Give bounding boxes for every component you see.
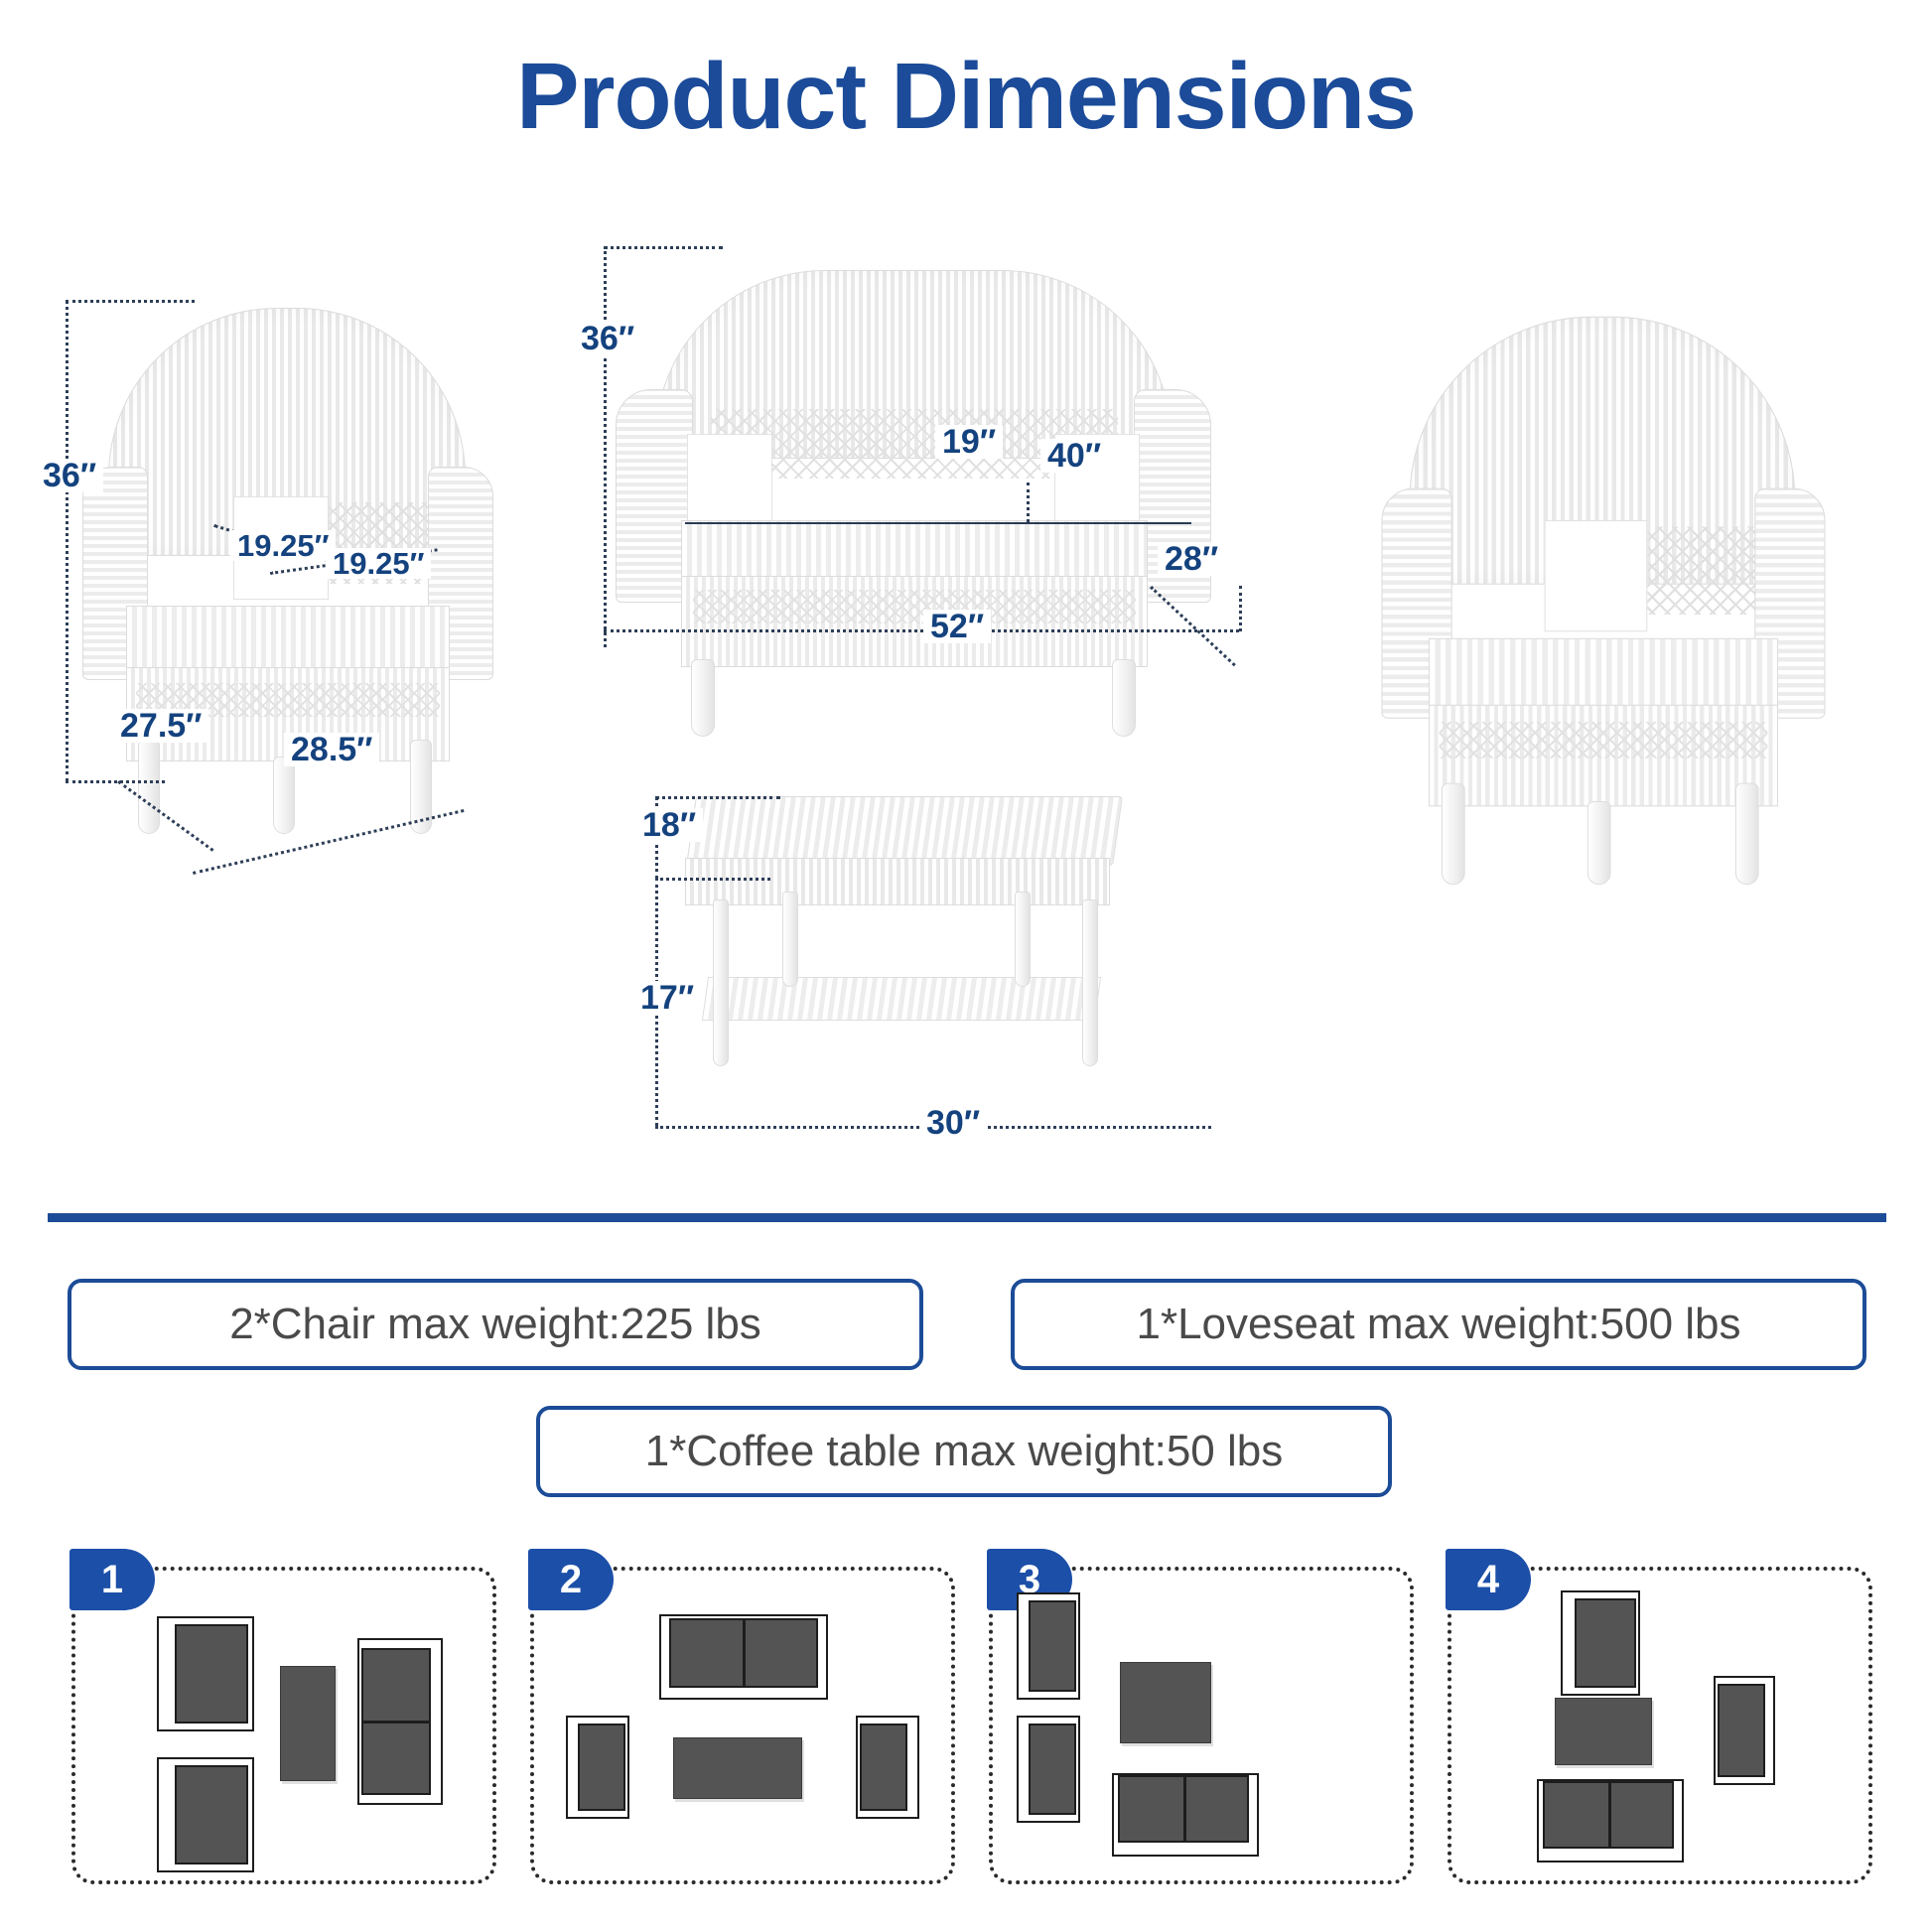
loveseat-seat-split xyxy=(1608,1781,1611,1849)
loveseat-height-label: 36″ xyxy=(574,322,641,355)
loveseat-seat-split xyxy=(1183,1775,1186,1843)
layout-chair-glyph xyxy=(1714,1676,1775,1785)
layout-badge-1: 1 xyxy=(69,1549,155,1610)
page-title: Product Dimensions xyxy=(0,48,1932,147)
layout-chair-glyph xyxy=(1561,1590,1640,1696)
chair-arm-gap xyxy=(1545,520,1648,631)
layout-chair-glyph xyxy=(1017,1592,1080,1700)
loveseat-height-tick-top xyxy=(604,246,723,249)
chair-height-tick-top xyxy=(66,300,195,303)
loveseat-depth-label: 28″ xyxy=(1158,542,1225,576)
chair-body xyxy=(175,1765,248,1864)
loveseat-width-label: 52″ xyxy=(923,610,991,643)
layout-option-3[interactable]: 3 xyxy=(989,1567,1414,1884)
coffee-table-width-label: 30″ xyxy=(919,1106,987,1140)
loveseat-leg-right xyxy=(1112,659,1136,737)
layout-chair-glyph xyxy=(157,1616,254,1731)
layout-chair-glyph xyxy=(566,1716,629,1819)
weight-limit-chair: 2*Chair max weight:225 lbs xyxy=(68,1279,923,1370)
layout-loveseat-glyph xyxy=(659,1614,828,1700)
chair-body xyxy=(175,1624,248,1724)
weight-limit-loveseat: 1*Loveseat max weight:500 lbs xyxy=(1011,1279,1866,1370)
layout-table-glyph xyxy=(1120,1662,1211,1743)
weight-limit-coffee-table: 1*Coffee table max weight:50 lbs xyxy=(536,1406,1392,1497)
coffee-table-shelf xyxy=(702,977,1101,1021)
chair-body xyxy=(860,1724,907,1811)
loveseat-seat-depth-line xyxy=(1027,483,1030,522)
loveseat-seat-width-label: 40″ xyxy=(1040,439,1108,473)
layout-table-glyph xyxy=(1555,1698,1652,1765)
chair-body xyxy=(1718,1684,1765,1777)
chair-height-label: 36″ xyxy=(36,459,103,492)
loveseat-seat xyxy=(681,520,1148,582)
loveseat-seat-depth-label: 19″ xyxy=(935,425,1003,459)
chair-illustration-right xyxy=(1373,317,1834,885)
chair-body xyxy=(1029,1724,1076,1815)
loveseat-seat-split xyxy=(361,1721,431,1724)
loveseat-leg-left xyxy=(691,659,715,737)
coffee-table-height-label: 17″ xyxy=(633,981,701,1015)
layout-table-glyph xyxy=(280,1666,336,1781)
coffee-table-top xyxy=(686,796,1123,866)
coffee-table-leg-rear-right xyxy=(1015,892,1031,987)
coffee-table-apron xyxy=(685,858,1110,905)
chair-body xyxy=(578,1724,625,1811)
layout-badge-4: 4 xyxy=(1446,1549,1531,1610)
loveseat-arm-gap-left xyxy=(687,434,772,529)
chair-leg-front-right xyxy=(1735,783,1759,886)
chair-body xyxy=(1029,1600,1076,1692)
layout-chair-glyph xyxy=(856,1716,919,1819)
loveseat-width-tick xyxy=(1239,586,1242,631)
chair-leg-front-left xyxy=(1442,783,1465,886)
layout-loveseat-glyph xyxy=(357,1638,443,1805)
layout-chair-glyph xyxy=(1017,1716,1080,1823)
loveseat-skirt-lattice xyxy=(693,590,1136,623)
layout-table-glyph xyxy=(673,1737,802,1799)
chair-height-line xyxy=(66,300,69,782)
loveseat-width-line xyxy=(604,629,1239,632)
loveseat-illustration xyxy=(616,270,1211,737)
loveseat-height-line xyxy=(604,246,607,647)
chair-seat-depth-label: 19.25″ xyxy=(230,530,336,561)
product-dimensions-infographic: Product Dimensions 36″ 19.25″ 19.25″ xyxy=(0,0,1932,1932)
chair-seat xyxy=(126,606,450,675)
coffee-table-leg-front-left xyxy=(713,899,729,1066)
chair-skirt-lattice xyxy=(1440,722,1767,759)
chair-depth-label: 27.5″ xyxy=(113,709,208,743)
layout-chair-glyph xyxy=(157,1757,254,1872)
section-divider xyxy=(48,1213,1886,1222)
dimension-diagram: 36″ 19.25″ 19.25″ 27.5″ 28.5″ xyxy=(0,189,1932,1181)
loveseat-seat-line xyxy=(685,522,1191,524)
chair-seat xyxy=(1429,638,1778,714)
layout-option-1[interactable]: 1 xyxy=(71,1567,496,1884)
loveseat-seat-split xyxy=(743,1618,746,1688)
coffee-table-depth-label: 18″ xyxy=(635,808,703,842)
chair-height-tick-bottom xyxy=(66,780,165,783)
layout-badge-2: 2 xyxy=(528,1549,614,1610)
coffee-table-depth-tick-top xyxy=(655,796,780,799)
layout-loveseat-glyph xyxy=(1537,1779,1684,1863)
chair-leg-front-left xyxy=(138,740,160,834)
chair-body xyxy=(1575,1598,1636,1688)
chair-seat-width-label: 19.25″ xyxy=(326,548,431,579)
chair-width-label: 28.5″ xyxy=(284,733,379,766)
coffee-table-depth-tick-bottom xyxy=(655,878,770,881)
layout-loveseat-glyph xyxy=(1112,1773,1259,1857)
chair-lattice-back xyxy=(1641,526,1770,615)
chair-leg-rear xyxy=(1587,801,1611,885)
layout-option-2[interactable]: 2 xyxy=(530,1567,955,1884)
coffee-table-illustration xyxy=(671,796,1138,1094)
coffee-table-leg-front-right xyxy=(1082,899,1098,1066)
coffee-table-leg-rear-left xyxy=(782,892,798,987)
layout-option-4[interactable]: 4 xyxy=(1448,1567,1872,1884)
